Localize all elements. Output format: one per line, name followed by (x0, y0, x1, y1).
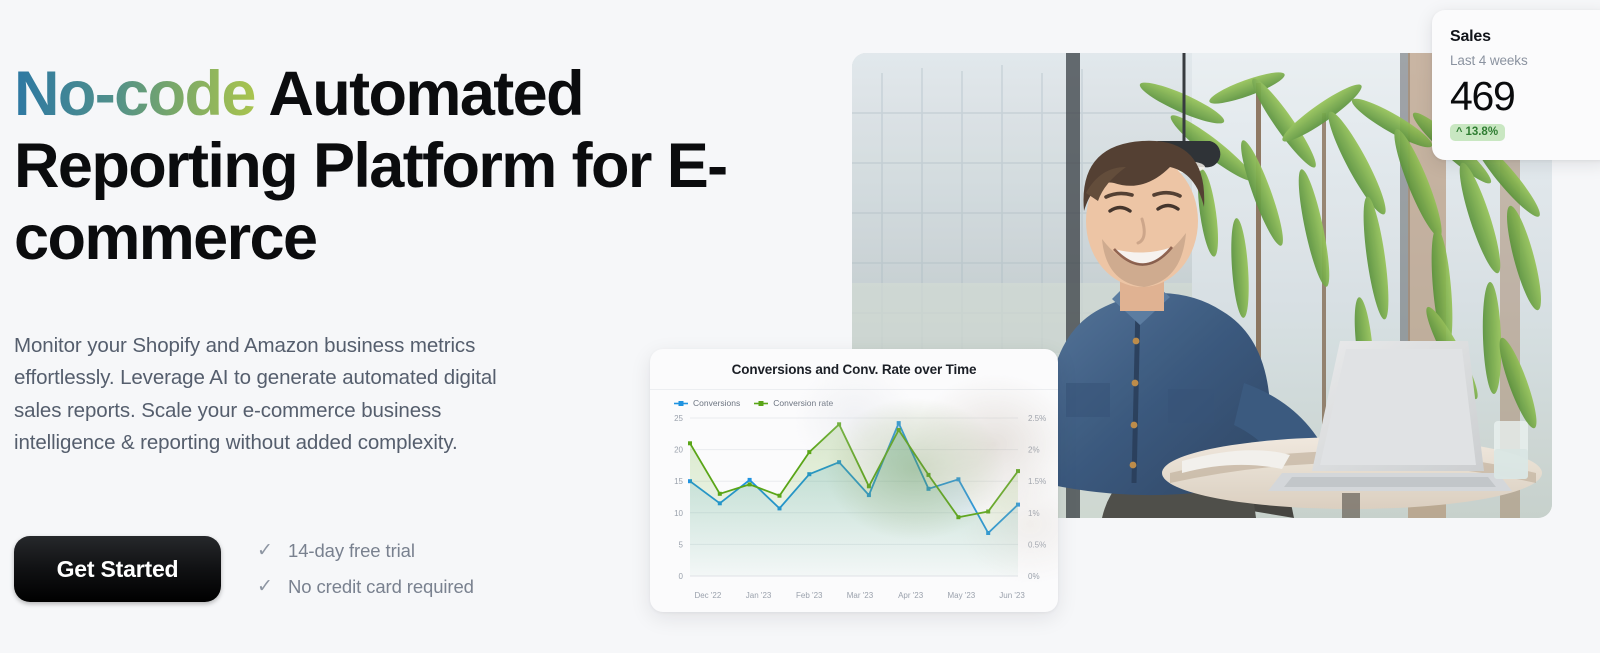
hero-left-column: No-code Automated Reporting Platform for… (14, 58, 774, 274)
sales-metric-card: Sales Last 4 weeks 469 ^ 13.8% (1432, 10, 1600, 160)
sales-delta-label: 13.8% (1465, 126, 1498, 138)
svg-text:Apr '23: Apr '23 (898, 591, 924, 600)
svg-text:Dec '22: Dec '22 (694, 591, 721, 600)
svg-text:20: 20 (674, 446, 683, 455)
chart-header: Conversions and Conv. Rate over Time (650, 349, 1058, 390)
svg-text:10: 10 (674, 509, 683, 518)
svg-text:May '23: May '23 (947, 591, 975, 600)
list-item: ✓ No credit card required (257, 576, 474, 598)
legend-item-conversion-rate[interactable]: Conversion rate (754, 398, 833, 408)
sales-card-title: Sales (1450, 28, 1600, 46)
sales-card-value: 469 (1450, 74, 1600, 118)
benefits-list: ✓ 14-day free trial ✓ No credit card req… (257, 540, 474, 598)
headline-highlight: No-code (14, 59, 255, 129)
svg-text:Mar '23: Mar '23 (847, 591, 874, 600)
svg-text:5: 5 (679, 540, 684, 549)
legend-marker-line-icon (754, 399, 768, 408)
hero-subhead: Monitor your Shopify and Amazon business… (14, 330, 524, 460)
get-started-button[interactable]: Get Started (14, 536, 221, 602)
legend-label: Conversion rate (773, 398, 833, 408)
svg-text:0: 0 (679, 572, 684, 581)
chart-legend: Conversions Conversion rate (650, 390, 1058, 408)
svg-text:2.5%: 2.5% (1028, 414, 1046, 423)
svg-text:15: 15 (674, 477, 683, 486)
svg-text:25: 25 (674, 414, 683, 423)
svg-text:0.5%: 0.5% (1028, 540, 1046, 549)
check-icon: ✓ (257, 579, 273, 595)
legend-item-conversions[interactable]: Conversions (674, 398, 740, 408)
legend-label: Conversions (693, 398, 740, 408)
svg-text:Jun '23: Jun '23 (999, 591, 1025, 600)
svg-text:1.5%: 1.5% (1028, 477, 1046, 486)
status-badge: ^ 13.8% (1450, 124, 1505, 141)
svg-text:Feb '23: Feb '23 (796, 591, 823, 600)
page-title: No-code Automated Reporting Platform for… (14, 58, 744, 274)
list-item: ✓ 14-day free trial (257, 540, 474, 562)
cta-row: Get Started ✓ 14-day free trial ✓ No cre… (14, 536, 474, 602)
svg-text:0%: 0% (1028, 572, 1040, 581)
benefit-label: 14-day free trial (288, 540, 415, 562)
svg-text:Jan '23: Jan '23 (746, 591, 772, 600)
caret-up-icon: ^ (1456, 127, 1462, 138)
chart-title: Conversions and Conv. Rate over Time (732, 362, 977, 377)
svg-text:1%: 1% (1028, 509, 1040, 518)
chart-svg: 05101520250%0.5%1%1.5%2%2.5%Dec '22Jan '… (650, 408, 1058, 608)
legend-marker-line-icon (674, 399, 688, 408)
hero-page: No-code Automated Reporting Platform for… (0, 0, 1600, 653)
check-icon: ✓ (257, 543, 273, 559)
svg-text:2%: 2% (1028, 446, 1040, 455)
conversions-chart-card: Conversions and Conv. Rate over Time Con… (650, 349, 1058, 612)
sales-card-subtitle: Last 4 weeks (1450, 53, 1600, 68)
chart-plot-area: 05101520250%0.5%1%1.5%2%2.5%Dec '22Jan '… (650, 408, 1058, 608)
benefit-label: No credit card required (288, 576, 474, 598)
